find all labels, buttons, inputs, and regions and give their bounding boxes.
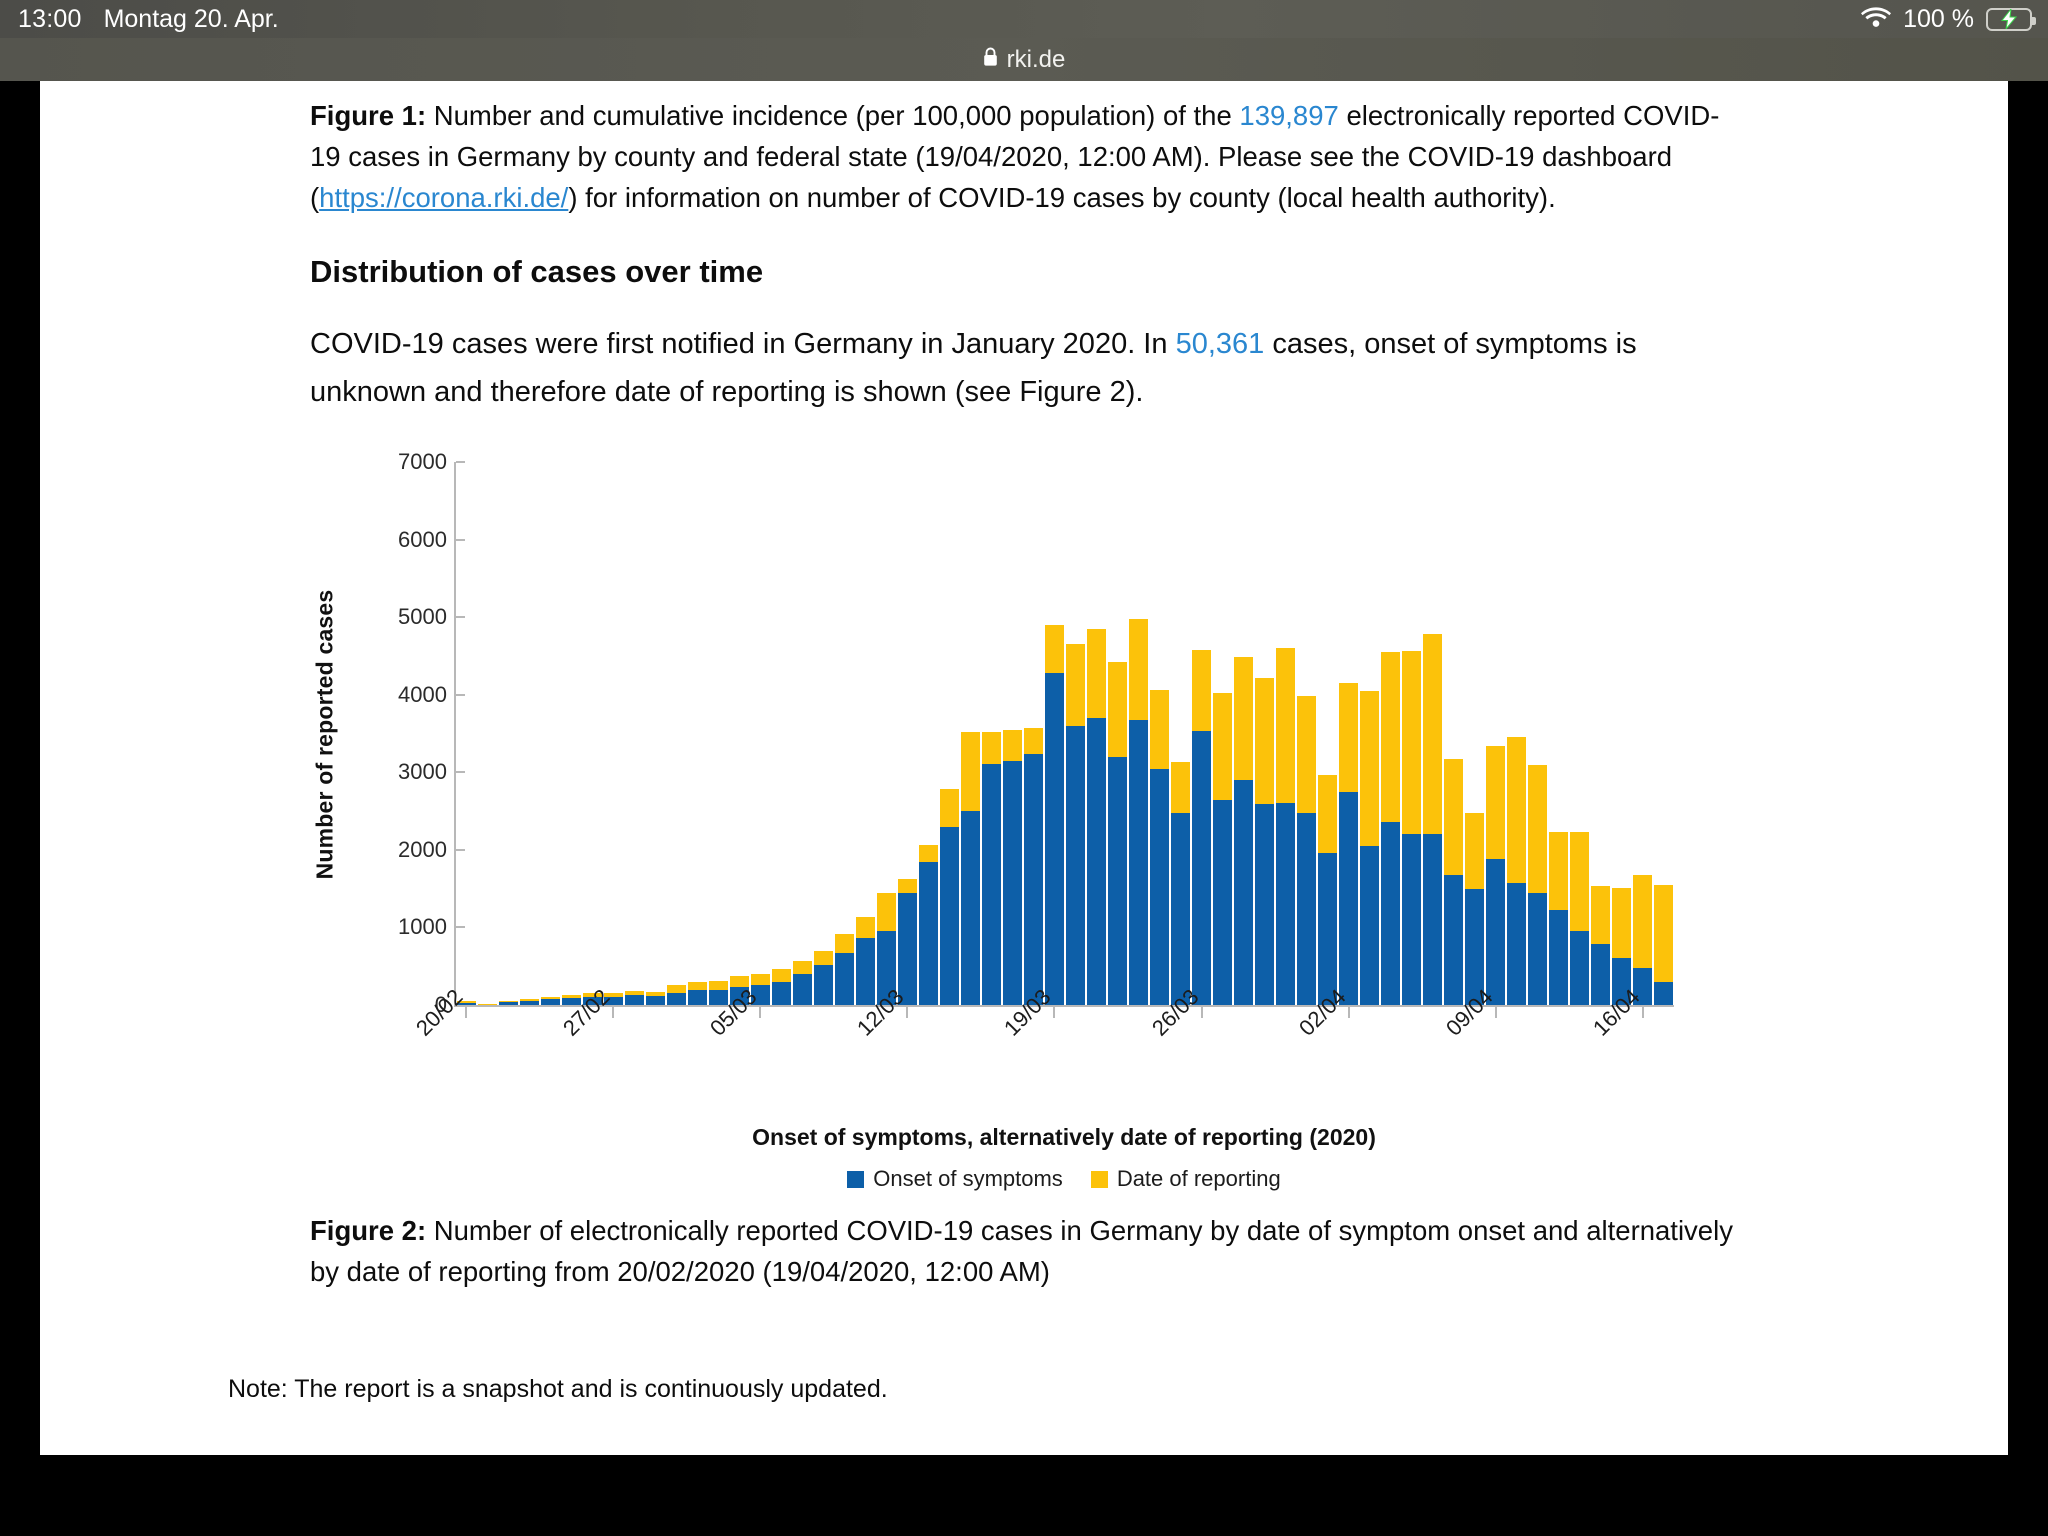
chart-bar-segment-onset <box>772 982 791 1005</box>
chart-bar <box>709 462 728 1005</box>
chart-bar <box>478 462 497 1005</box>
figure2-chart: Number of reported cases 010002000300040… <box>302 454 1742 1194</box>
chart-bar <box>1276 462 1295 1005</box>
chart-bar-segment-reporting <box>478 1004 497 1005</box>
chart-bar <box>1255 462 1274 1005</box>
chart-bar <box>856 462 875 1005</box>
chart-bar <box>1339 462 1358 1005</box>
figure2-label: Figure 2: <box>310 1215 426 1246</box>
chart-bar-segment-onset <box>1234 780 1253 1005</box>
ios-status-bar: 13:00 Montag 20. Apr. 100 % <box>0 0 2048 38</box>
chart-bar-segment-reporting <box>625 991 644 996</box>
chart-bar <box>1108 462 1127 1005</box>
chart-bar-segment-reporting <box>772 969 791 982</box>
chart-bar-segment-onset <box>1024 754 1043 1005</box>
chart-y-tick: 5000 <box>398 604 456 630</box>
chart-bar <box>1213 462 1232 1005</box>
chart-x-tick-mark <box>1201 1007 1203 1018</box>
chart-bar-segment-onset <box>1087 718 1106 1005</box>
chart-bar-segment-reporting <box>541 997 560 999</box>
chart-bar-segment-onset <box>1129 720 1148 1005</box>
chart-bar-segment-reporting <box>1087 629 1106 718</box>
chart-bar <box>835 462 854 1005</box>
chart-bar-segment-onset <box>1507 883 1526 1005</box>
battery-charging-icon <box>1986 8 2032 31</box>
wifi-icon <box>1861 6 1891 33</box>
chart-bar <box>499 462 518 1005</box>
chart-bar-segment-reporting <box>1549 832 1568 910</box>
document-body: Figure 1: Number and cumulative incidenc… <box>40 81 2008 1408</box>
chart-bar-segment-reporting <box>562 995 581 998</box>
chart-bar <box>1087 462 1106 1005</box>
chart-bar-segment-onset <box>1171 813 1190 1005</box>
figure1-caption: Figure 1: Number and cumulative incidenc… <box>310 81 1743 218</box>
chart-bar-segment-reporting <box>646 992 665 997</box>
chart-bar-segment-reporting <box>1045 625 1064 673</box>
chart-bar-segment-onset <box>499 1002 518 1005</box>
chart-bar-segment-reporting <box>1024 728 1043 754</box>
chart-legend-item: Onset of symptoms <box>847 1166 1063 1192</box>
chart-bar <box>877 462 896 1005</box>
chart-bar-segment-onset <box>1591 944 1610 1005</box>
chart-bar <box>1612 462 1631 1005</box>
chart-bar-segment-reporting <box>793 961 812 974</box>
chart-bar-segment-reporting <box>982 732 1001 764</box>
chart-bar <box>1024 462 1043 1005</box>
chart-bar <box>1066 462 1085 1005</box>
chart-x-tick-mark <box>612 1007 614 1018</box>
chart-bar-segment-reporting <box>1402 651 1421 833</box>
chart-bar-segment-onset <box>1402 834 1421 1005</box>
chart-x-tick-mark <box>906 1007 908 1018</box>
chart-y-tick-label: 3000 <box>398 759 456 785</box>
status-bar-left: 13:00 Montag 20. Apr. <box>0 5 279 34</box>
chart-bar-segment-reporting <box>520 999 539 1001</box>
chart-bar-segment-onset <box>1276 803 1295 1005</box>
chart-bar-segment-onset <box>961 811 980 1005</box>
chart-bar-segment-reporting <box>1633 875 1652 967</box>
chart-bar-segment-reporting <box>1423 634 1442 833</box>
dashboard-link[interactable]: https://corona.rki.de/ <box>319 182 568 213</box>
chart-bar <box>940 462 959 1005</box>
lock-icon <box>983 47 998 72</box>
chart-bar <box>688 462 707 1005</box>
chart-bar-segment-reporting <box>814 951 833 965</box>
chart-bar-segment-onset <box>1654 982 1673 1005</box>
chart-x-ticks: 20/0227/0205/0312/0319/0326/0302/0409/04… <box>454 1007 1674 1021</box>
chart-y-tick: 7000 <box>398 449 456 475</box>
chart-bar-segment-onset <box>940 827 959 1005</box>
chart-bar <box>814 462 833 1005</box>
chart-legend-swatch <box>847 1171 864 1188</box>
chart-bar-segment-onset <box>1318 853 1337 1005</box>
chart-bar-segment-onset <box>1339 792 1358 1005</box>
chart-bar <box>1171 462 1190 1005</box>
chart-bar-segment-onset <box>856 938 875 1005</box>
chart-x-tick-mark <box>1053 1007 1055 1018</box>
chart-bar-segment-reporting <box>1234 657 1253 780</box>
chart-bar <box>583 462 602 1005</box>
chart-bar-segment-onset <box>1528 893 1547 1005</box>
chart-bar-segment-onset <box>1003 761 1022 1005</box>
chart-bar-segment-onset <box>1360 846 1379 1005</box>
chart-bar <box>1507 462 1526 1005</box>
chart-bar <box>919 462 938 1005</box>
chart-bar <box>1381 462 1400 1005</box>
chart-bar-segment-reporting <box>1171 762 1190 812</box>
chart-bar <box>1045 462 1064 1005</box>
chart-bar <box>1654 462 1673 1005</box>
chart-bar-segment-onset <box>1255 804 1274 1005</box>
chart-bar <box>1486 462 1505 1005</box>
chart-bar-segment-reporting <box>499 1001 518 1002</box>
chart-bar-segment-onset <box>814 965 833 1005</box>
chart-bar-segment-reporting <box>667 985 686 993</box>
chart-bar-segment-reporting <box>1507 737 1526 883</box>
chart-bar-segment-reporting <box>1612 888 1631 959</box>
chart-bar-segment-onset <box>835 953 854 1005</box>
chart-x-tick-mark <box>1495 1007 1497 1018</box>
battery-percent-label: 100 % <box>1903 5 1974 34</box>
chart-legend-label: Date of reporting <box>1117 1166 1281 1192</box>
chart-y-tick-label: 2000 <box>398 837 456 863</box>
chart-legend-label: Onset of symptoms <box>873 1166 1063 1192</box>
chart-bar <box>751 462 770 1005</box>
chart-bar <box>1444 462 1463 1005</box>
chart-y-tick-label: 1000 <box>398 914 456 940</box>
chart-bar-segment-reporting <box>1150 690 1169 769</box>
chart-bar <box>1192 462 1211 1005</box>
chart-bar-segment-reporting <box>1318 775 1337 853</box>
chart-bar-segment-reporting <box>961 732 980 811</box>
chart-bar-segment-onset <box>898 893 917 1005</box>
chart-bar-segment-reporting <box>1381 652 1400 822</box>
chart-bar-segment-onset <box>1192 731 1211 1005</box>
chart-bar <box>1423 462 1442 1005</box>
chart-x-tick-mark <box>465 1007 467 1018</box>
chart-bar-segment-reporting <box>919 845 938 862</box>
chart-bar-segment-reporting <box>1591 886 1610 943</box>
chart-bar <box>982 462 1001 1005</box>
chart-y-tick-label: 6000 <box>398 527 456 553</box>
chart-bar <box>1318 462 1337 1005</box>
chart-bar-segment-onset <box>1150 769 1169 1005</box>
chart-bar-segment-onset <box>1297 813 1316 1005</box>
chart-bar-segment-onset <box>1381 822 1400 1005</box>
figure1-text-3: ) for information on number of COVID-19 … <box>568 182 1555 213</box>
chart-bar-segment-onset <box>919 862 938 1005</box>
chart-x-tick-mark <box>1642 1007 1644 1018</box>
chart-bar <box>520 462 539 1005</box>
chart-y-tick: 3000 <box>398 759 456 785</box>
chart-bar-segment-onset <box>1549 910 1568 1005</box>
chart-bar-segment-reporting <box>1276 648 1295 802</box>
chart-bar-segment-reporting <box>1339 683 1358 792</box>
chart-bar-segment-onset <box>1570 931 1589 1005</box>
chart-bar <box>667 462 686 1005</box>
chart-y-tick: 6000 <box>398 527 456 553</box>
chart-bar-segment-onset <box>1213 800 1232 1005</box>
chart-bar <box>961 462 980 1005</box>
chart-bar <box>730 462 749 1005</box>
section-heading-distribution: Distribution of cases over time <box>310 254 1743 290</box>
chart-x-tick-mark <box>759 1007 761 1018</box>
chart-x-tick-mark <box>1348 1007 1350 1018</box>
chart-bar-segment-reporting <box>709 981 728 990</box>
chart-bar <box>793 462 812 1005</box>
chart-bar-segment-reporting <box>877 893 896 932</box>
intro-text-1: COVID-19 cases were first notified in Ge… <box>310 328 1176 360</box>
chart-bar <box>646 462 665 1005</box>
chart-legend: Onset of symptomsDate of reporting <box>454 1166 1674 1192</box>
report-note: Note: The report is a snapshot and is co… <box>228 1370 1743 1408</box>
chart-bar <box>1570 462 1589 1005</box>
chart-bar-segment-onset <box>541 999 560 1005</box>
chart-bar-segment-reporting <box>1213 693 1232 800</box>
chart-y-tick-label: 7000 <box>398 449 456 475</box>
browser-url-bar[interactable]: rki.de <box>0 38 2048 81</box>
chart-bar-segment-reporting <box>898 879 917 894</box>
chart-bar-segment-reporting <box>1486 746 1505 859</box>
chart-bar <box>772 462 791 1005</box>
chart-bar-segment-onset <box>688 990 707 1005</box>
chart-bars <box>456 462 1674 1005</box>
chart-bar-segment-onset <box>1444 875 1463 1005</box>
status-bar-date: Montag 20. Apr. <box>104 5 279 34</box>
chart-bar-segment-reporting <box>1528 765 1547 893</box>
chart-plot-area: 01000200030004000500060007000 <box>454 462 1674 1007</box>
status-bar-clock: 13:00 <box>18 5 82 34</box>
chart-bar-segment-reporting <box>1297 696 1316 813</box>
figure1-text-1: Number and cumulative incidence (per 100… <box>426 100 1239 131</box>
chart-bar-segment-reporting <box>1066 644 1085 726</box>
chart-bar <box>1633 462 1652 1005</box>
chart-bar-segment-reporting <box>688 982 707 990</box>
url-text: rki.de <box>1007 46 1066 74</box>
chart-bar <box>1465 462 1484 1005</box>
chart-y-tick: 1000 <box>398 914 456 940</box>
chart-bar-segment-reporting <box>856 917 875 939</box>
chart-y-tick: 2000 <box>398 837 456 863</box>
chart-bar <box>1297 462 1316 1005</box>
chart-bar-segment-reporting <box>1129 619 1148 719</box>
chart-bar <box>1528 462 1547 1005</box>
chart-bar <box>1402 462 1421 1005</box>
chart-bar-segment-reporting <box>1654 885 1673 982</box>
chart-bar <box>1591 462 1610 1005</box>
chart-bar-segment-onset <box>1045 673 1064 1005</box>
chart-bar-segment-onset <box>520 1001 539 1005</box>
chart-legend-item: Date of reporting <box>1091 1166 1281 1192</box>
intro-paragraph: COVID-19 cases were first notified in Ge… <box>310 320 1743 416</box>
chart-x-axis-title: Onset of symptoms, alternatively date of… <box>454 1124 1674 1151</box>
figure2-caption: Figure 2: Number of electronically repor… <box>310 1210 1743 1292</box>
chart-bar-segment-reporting <box>1444 759 1463 875</box>
chart-bar-segment-reporting <box>1465 813 1484 889</box>
chart-y-tick-label: 5000 <box>398 604 456 630</box>
figure1-case-count: 139,897 <box>1239 100 1338 131</box>
chart-bar-segment-onset <box>1108 757 1127 1005</box>
chart-bar-segment-reporting <box>1192 650 1211 731</box>
chart-bar <box>541 462 560 1005</box>
chart-bar-segment-reporting <box>1570 832 1589 931</box>
chart-bar-segment-onset <box>1486 859 1505 1005</box>
intro-unknown-onset-count: 50,361 <box>1176 328 1265 360</box>
chart-bar-segment-reporting <box>835 934 854 953</box>
chart-bar <box>1360 462 1379 1005</box>
chart-bar-segment-reporting <box>1108 662 1127 757</box>
chart-bar <box>898 462 917 1005</box>
chart-bar-segment-onset <box>667 993 686 1005</box>
chart-bar-segment-onset <box>646 996 665 1005</box>
chart-bar <box>1234 462 1253 1005</box>
chart-bar-segment-reporting <box>940 789 959 826</box>
chart-bar-segment-onset <box>982 764 1001 1005</box>
chart-bar-segment-reporting <box>751 974 770 985</box>
figure1-label: Figure 1: <box>310 100 426 131</box>
chart-legend-swatch <box>1091 1171 1108 1188</box>
chart-bar <box>625 462 644 1005</box>
chart-bar-segment-onset <box>625 995 644 1005</box>
chart-bar <box>562 462 581 1005</box>
chart-bar-segment-reporting <box>1255 678 1274 804</box>
chart-bar <box>604 462 623 1005</box>
chart-bar-segment-onset <box>793 974 812 1005</box>
chart-bar-segment-onset <box>1066 726 1085 1005</box>
chart-bar <box>457 462 476 1005</box>
web-page-content: Figure 1: Number and cumulative incidenc… <box>40 81 2008 1455</box>
status-bar-right: 100 % <box>1861 0 2032 38</box>
chart-bar <box>1549 462 1568 1005</box>
chart-y-tick-label: 4000 <box>398 682 456 708</box>
chart-bar-segment-reporting <box>1003 730 1022 761</box>
chart-bar <box>1129 462 1148 1005</box>
chart-bar-segment-onset <box>478 1004 497 1005</box>
chart-bar <box>1150 462 1169 1005</box>
chart-y-axis-title: Number of reported cases <box>308 454 342 1014</box>
chart-y-tick: 4000 <box>398 682 456 708</box>
chart-bar <box>1003 462 1022 1005</box>
chart-bar-segment-onset <box>1423 834 1442 1005</box>
figure2-text: Number of electronically reported COVID-… <box>310 1215 1733 1287</box>
chart-bar-segment-reporting <box>1360 691 1379 846</box>
